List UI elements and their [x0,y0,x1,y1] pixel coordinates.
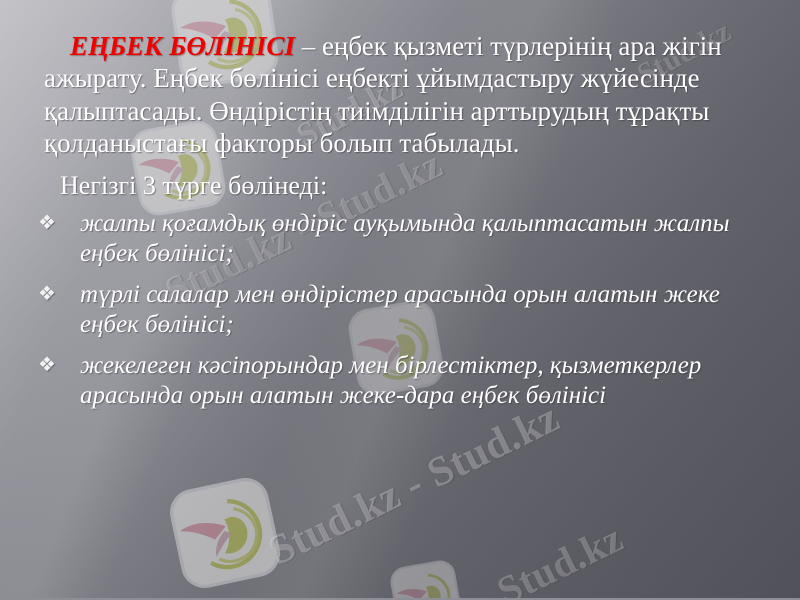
definition-term: ЕҢБЕК БӨЛІНІСІ [70,31,295,61]
subheading: Негізгі 3 түрге бөлінеді: [22,170,764,201]
diamond-bullet-icon: ❖ [38,352,56,378]
list-item: ❖ түрлі салалар мен өндірістер арасында … [22,280,764,351]
diamond-bullet-icon: ❖ [38,210,56,236]
list-item-label: түрлі салалар мен өндірістер арасында ор… [80,281,720,339]
list-item: ❖ жекелеген кәсіпорындар мен бірлестікте… [22,351,764,422]
hummingbird-logo-icon [384,554,467,598]
presentation-slide: Stud.kz Stud.kz - Stud.kz Stud.kz - Stud… [0,0,800,600]
bullet-list: ❖ жалпы қоғамдық өндіріс ауқымында қалып… [22,209,764,422]
list-item-label: жекелеген кәсіпорындар мен бірлестіктер,… [80,352,701,410]
watermark-text: Stud.kz [490,514,631,598]
definition-paragraph: ЕҢБЕК БӨЛІНІСІ – еңбек қызметі түрлеріні… [22,30,764,160]
hummingbird-logo-icon [160,468,290,598]
list-item-label: жалпы қоғамдық өндіріс ауқымында қалыпта… [80,210,730,268]
slide-content: ЕҢБЕК БӨЛІНІСІ – еңбек қызметі түрлеріні… [0,0,800,422]
diamond-bullet-icon: ❖ [38,281,56,307]
list-item: ❖ жалпы қоғамдық өндіріс ауқымында қалып… [22,209,764,280]
